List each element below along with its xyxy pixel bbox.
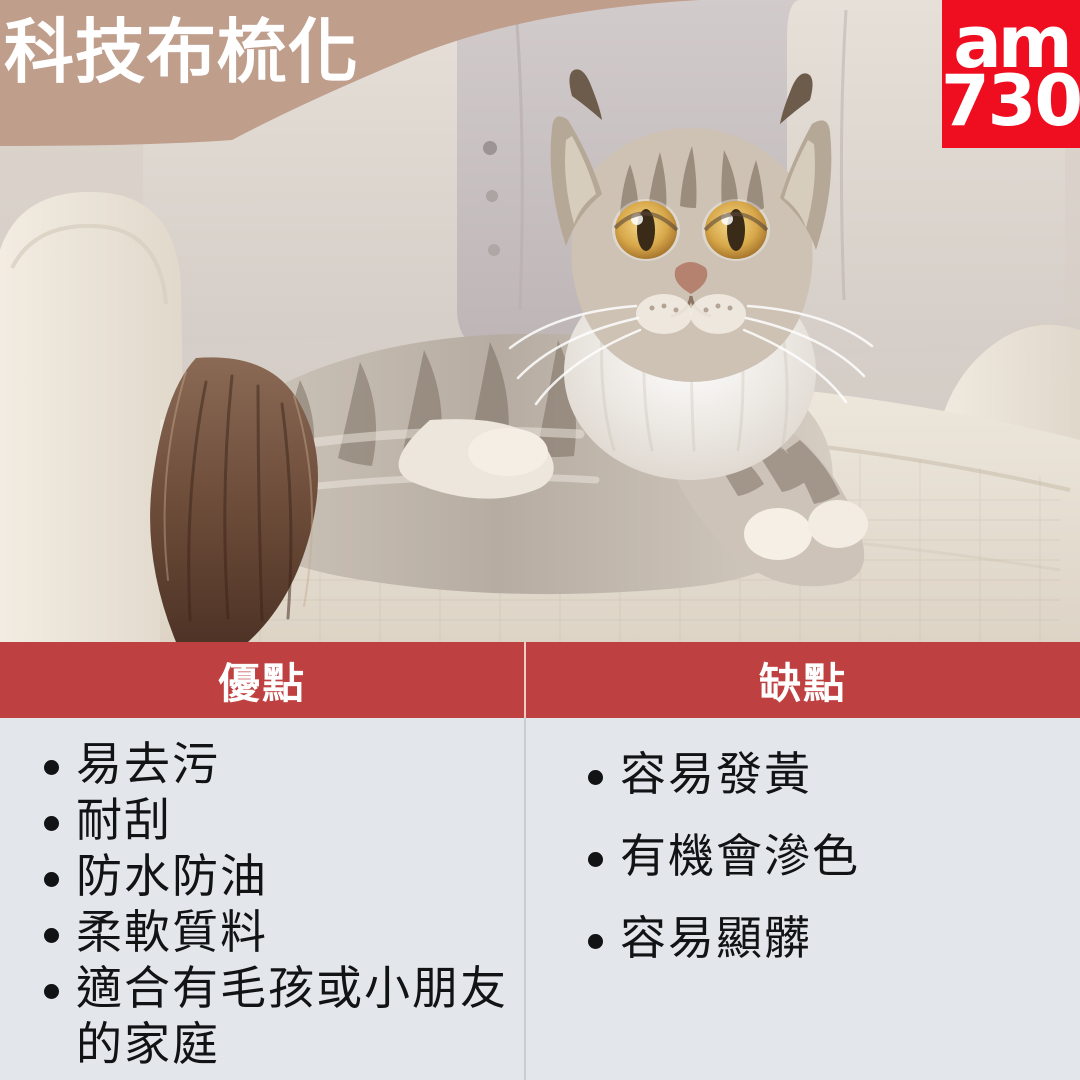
list-item: 易去污 (30, 736, 514, 792)
header-pros: 優點 (0, 642, 524, 718)
header-cons: 缺點 (526, 642, 1080, 718)
hero-photo (0, 0, 1080, 642)
am730-logo[interactable]: am 730 (942, 0, 1080, 148)
pros-column: 易去污 耐刮 防水防油 柔軟質料 適合有毛孩或小朋友的家庭 (0, 718, 524, 1080)
list-item: 容易發黃 (574, 746, 1060, 802)
pros-list: 易去污 耐刮 防水防油 柔軟質料 適合有毛孩或小朋友的家庭 (30, 736, 514, 1072)
cons-list: 容易發黃 有機會滲色 容易顯髒 (574, 746, 1060, 966)
list-item: 容易顯髒 (574, 910, 1060, 966)
infographic-canvas: 科技布梳化 am 730 優點 缺點 易去污 耐刮 防水防油 柔軟質料 適合有毛… (0, 0, 1080, 1080)
list-item: 適合有毛孩或小朋友的家庭 (30, 960, 514, 1072)
table-header-row: 優點 缺點 (0, 642, 1080, 718)
table-body: 易去污 耐刮 防水防油 柔軟質料 適合有毛孩或小朋友的家庭 容易發黃 有機會滲色… (0, 718, 1080, 1080)
list-item: 耐刮 (30, 792, 514, 848)
page-title: 科技布梳化 (4, 10, 524, 94)
cons-column: 容易發黃 有機會滲色 容易顯髒 (526, 718, 1080, 1080)
list-item: 柔軟質料 (30, 904, 514, 960)
list-item: 防水防油 (30, 848, 514, 904)
logo-730-text: 730 (942, 64, 1080, 138)
list-item: 有機會滲色 (574, 828, 1060, 884)
cat-sofa-illustration (0, 0, 1080, 642)
